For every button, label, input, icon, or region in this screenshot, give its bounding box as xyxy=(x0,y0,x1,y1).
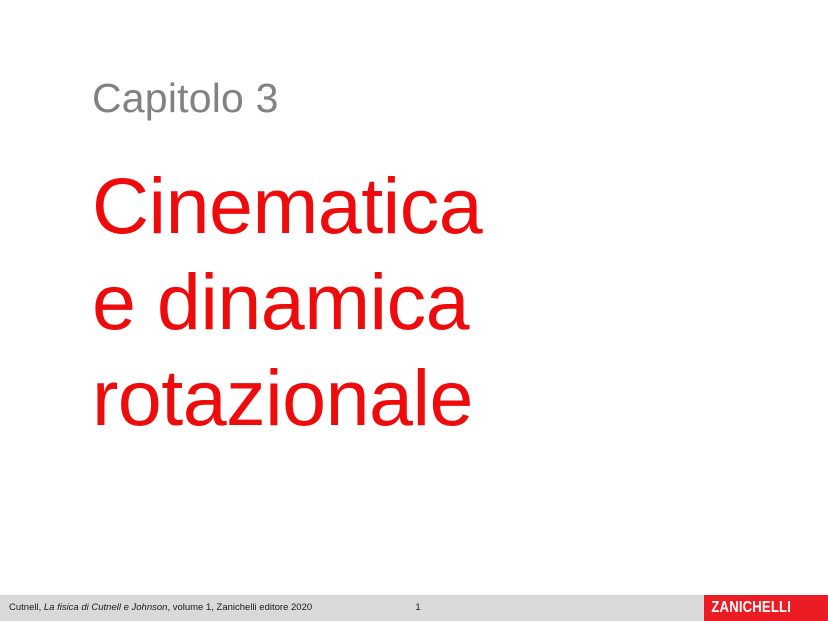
slide-title-line-1: Cinematica xyxy=(92,158,752,254)
publisher-logo-text: ZANICHELLI xyxy=(704,599,791,617)
publisher-logo: ZANICHELLI xyxy=(704,595,828,621)
footer-citation-prefix: Cutnell, xyxy=(9,602,44,613)
footer-bar: Cutnell, La fisica di Cutnell e Johnson,… xyxy=(0,595,828,621)
slide-title-line-3: rotazionale xyxy=(92,350,752,446)
footer-citation-book-title: La fisica di Cutnell e Johnson xyxy=(44,602,168,613)
chapter-label: Capitolo 3 xyxy=(92,76,279,121)
slide-title-line-2: e dinamica xyxy=(92,254,752,350)
footer-citation-suffix: , volume 1, Zanichelli editore 2020 xyxy=(167,602,312,613)
footer-citation: Cutnell, La fisica di Cutnell e Johnson,… xyxy=(9,595,312,621)
slide-canvas: Capitolo 3 Cinematica e dinamica rotazio… xyxy=(0,0,828,621)
slide-title: Cinematica e dinamica rotazionale xyxy=(92,158,752,446)
footer-page-number: 1 xyxy=(395,595,441,621)
